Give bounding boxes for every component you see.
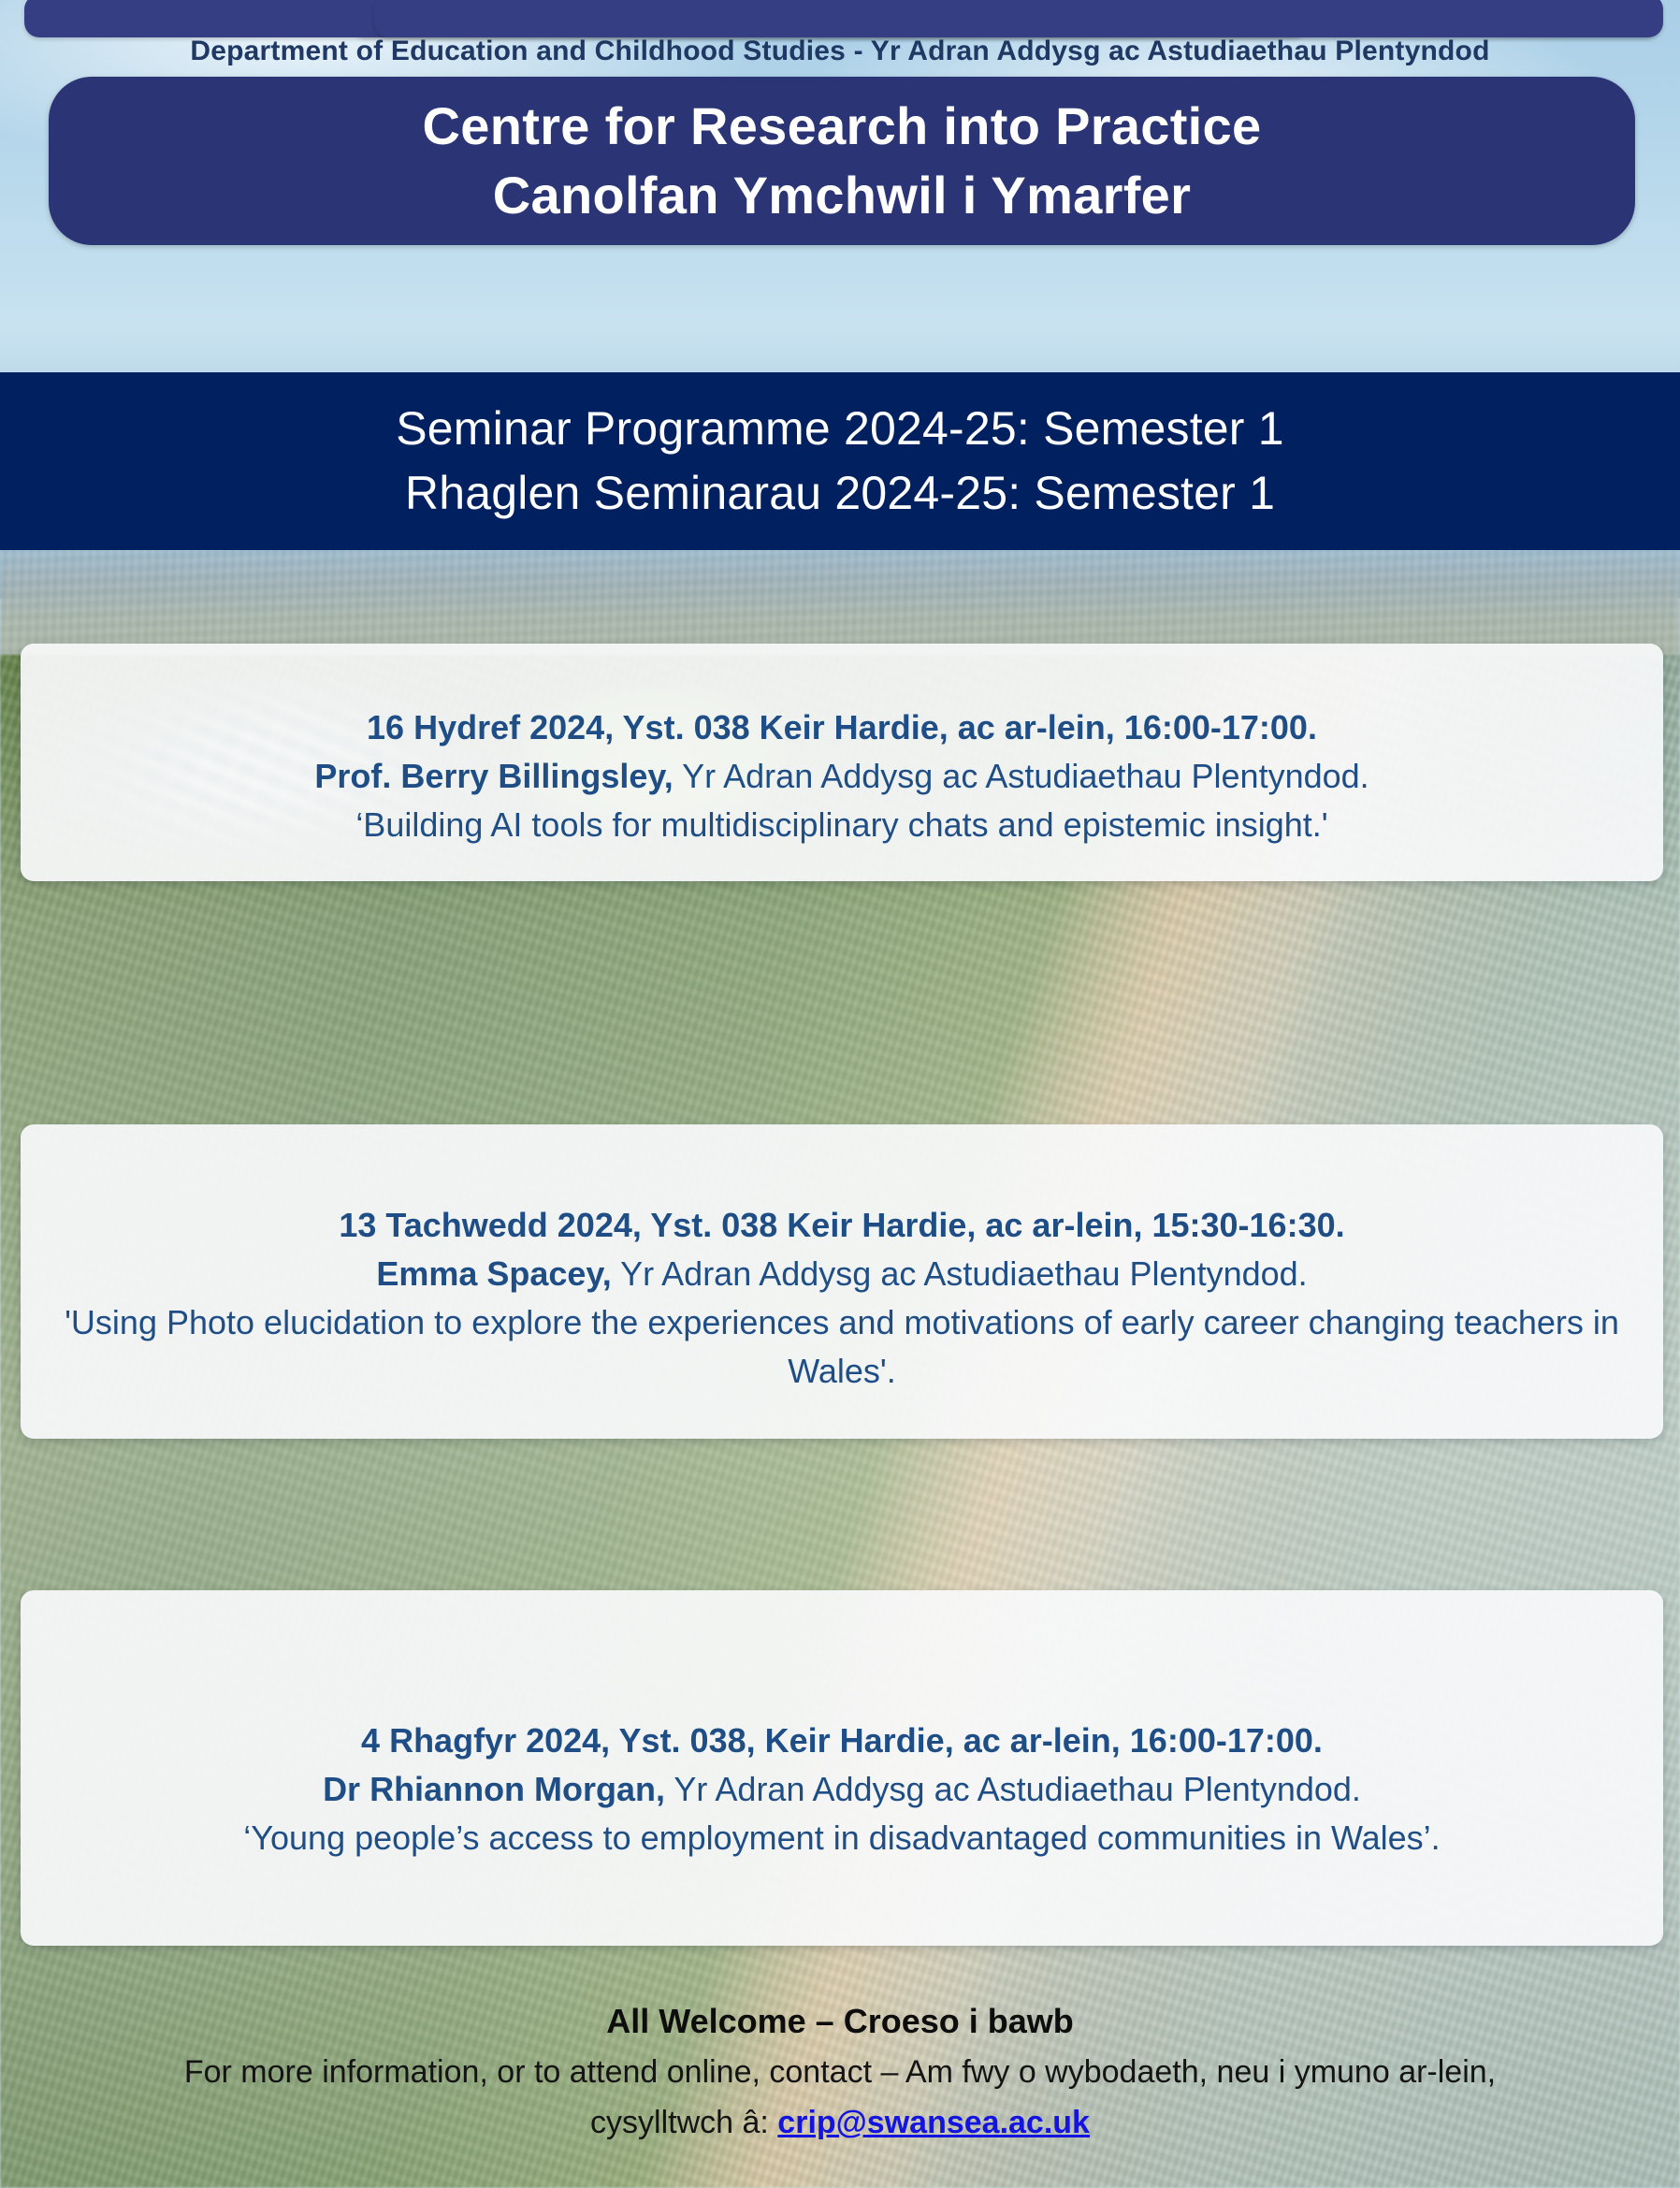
seminar-topic: ‘Building AI tools for multidisciplinary… <box>45 801 1639 849</box>
contact-email-link[interactable]: crip@swansea.ac.uk <box>777 2105 1090 2140</box>
department-line: Department of Education and Childhood St… <box>0 36 1680 67</box>
centre-title-english: Centre for Research into Practice <box>423 94 1262 159</box>
seminar-speaker: Dr Rhiannon Morgan, <box>323 1770 665 1808</box>
all-welcome-text: All Welcome – Croeso i bawb <box>0 1996 1680 2047</box>
centre-title-plate: Centre for Research into Practice Canolf… <box>49 77 1635 245</box>
seminar-card-body: 13 Tachwedd 2024, Yst. 038 Keir Hardie, … <box>21 1167 1663 1395</box>
seminar-speaker: Prof. Berry Billingsley, <box>314 757 673 795</box>
seminar-topic: ‘Young people’s access to employment in … <box>45 1814 1639 1862</box>
seminar-card: 16 Hydref 2024, Yst. 038 Keir Hardie, ac… <box>21 644 1663 881</box>
seminar-poster: Department of Education and Childhood St… <box>0 0 1680 2188</box>
programme-band-english: Seminar Programme 2024-25: Semester 1 <box>396 398 1284 461</box>
seminar-affiliation: Yr Adran Addysg ac Astudiaethau Plentynd… <box>612 1254 1308 1293</box>
seminar-topic: 'Using Photo elucidation to explore the … <box>45 1298 1639 1396</box>
seminar-card-body: 4 Rhagfyr 2024, Yst. 038, Keir Hardie, a… <box>21 1674 1663 1862</box>
contact-info-text: For more information, or to attend onlin… <box>0 2047 1680 2149</box>
programme-band: Seminar Programme 2024-25: Semester 1 Rh… <box>0 372 1680 550</box>
seminar-affiliation: Yr Adran Addysg ac Astudiaethau Plentynd… <box>665 1770 1361 1808</box>
seminar-card: 4 Rhagfyr 2024, Yst. 038, Keir Hardie, a… <box>21 1590 1663 1946</box>
poster-footer: All Welcome – Croeso i bawb For more inf… <box>0 1996 1680 2149</box>
seminar-speaker-line: Emma Spacey, Yr Adran Addysg ac Astudiae… <box>45 1250 1639 1298</box>
centre-title-welsh: Canolfan Ymchwil i Ymarfer <box>493 163 1191 228</box>
seminar-card-tab <box>374 0 1663 37</box>
seminar-speaker-line: Dr Rhiannon Morgan, Yr Adran Addysg ac A… <box>45 1765 1639 1814</box>
seminar-speaker-line: Prof. Berry Billingsley, Yr Adran Addysg… <box>45 752 1639 801</box>
seminar-affiliation: Yr Adran Addysg ac Astudiaethau Plentynd… <box>673 757 1369 795</box>
seminar-datetime: 16 Hydref 2024, Yst. 038 Keir Hardie, ac… <box>45 703 1639 752</box>
seminar-datetime: 13 Tachwedd 2024, Yst. 038 Keir Hardie, … <box>45 1201 1639 1250</box>
seminar-speaker: Emma Spacey, <box>376 1254 611 1293</box>
seminar-card: 13 Tachwedd 2024, Yst. 038 Keir Hardie, … <box>21 1124 1663 1439</box>
programme-band-welsh: Rhaglen Seminarau 2024-25: Semester 1 <box>405 462 1275 526</box>
seminar-datetime: 4 Rhagfyr 2024, Yst. 038, Keir Hardie, a… <box>45 1717 1639 1765</box>
seminar-card-body: 16 Hydref 2024, Yst. 038 Keir Hardie, ac… <box>21 675 1663 848</box>
